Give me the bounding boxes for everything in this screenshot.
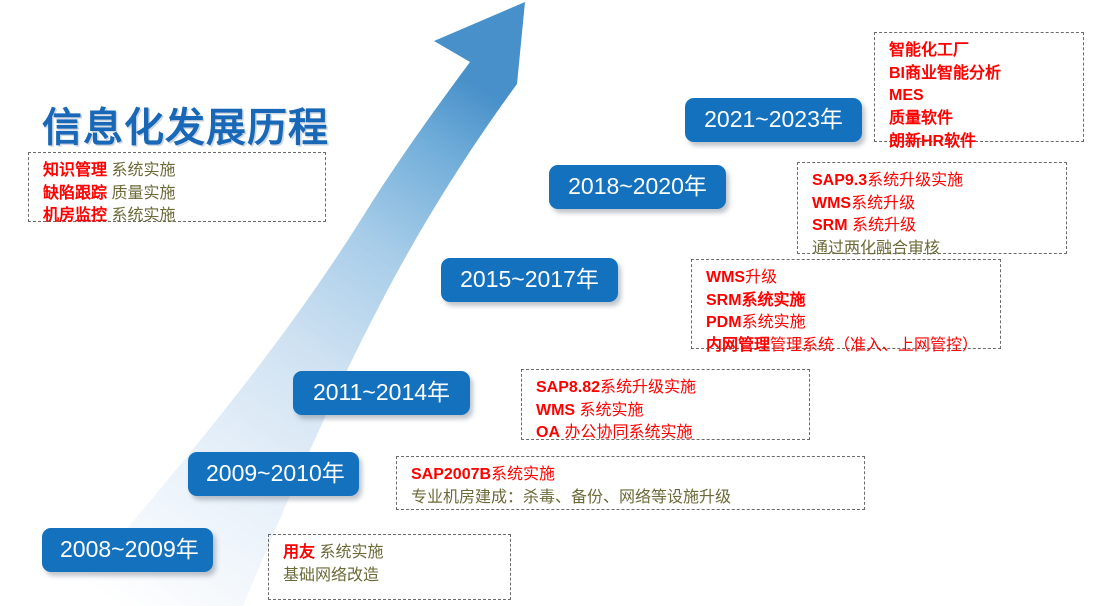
detail-line: 缺陷跟踪 质量实施 — [43, 183, 313, 206]
detail-line: MES — [889, 85, 1071, 108]
detail-rest: 系统实施 — [315, 544, 383, 561]
year-badge-label: 2008~2009年 — [60, 536, 199, 562]
detail-rest: 办公协同系统实施 — [560, 424, 692, 441]
detail-box-2018-2020: SAP9.3系统升级实施WMS系统升级SRM 系统升级通过两化融合审核 — [797, 162, 1067, 254]
detail-line: 机房监控 系统实施 — [43, 205, 313, 228]
detail-highlight: SAP2007B — [411, 466, 491, 483]
year-badge-2009-2010[interactable]: 2009~2010年 — [188, 452, 359, 496]
year-badge-2018-2020[interactable]: 2018~2020年 — [549, 165, 726, 209]
detail-line: BI商业智能分析 — [889, 63, 1071, 86]
year-badge-2011-2014[interactable]: 2011~2014年 — [293, 371, 470, 415]
detail-rest: 系统实施 — [742, 314, 806, 331]
detail-box-2015-2017: WMS升级SRM系统实施PDM系统实施内网管理管理系统（准入、上网管控） — [691, 259, 1001, 349]
detail-line: SAP8.82系统升级实施 — [536, 377, 797, 400]
year-badge-label: 2009~2010年 — [206, 460, 345, 486]
detail-line: SRM系统实施 — [706, 290, 988, 313]
detail-rest: 系统实施 — [107, 162, 175, 179]
year-badge-label: 2011~2014年 — [313, 379, 450, 405]
detail-highlight: WMS — [812, 195, 851, 212]
detail-rest: 系统实施 — [491, 466, 555, 483]
detail-highlight: 内网管理 — [706, 337, 770, 354]
detail-line: WMS 系统实施 — [536, 400, 797, 423]
detail-highlight: 机房监控 — [43, 207, 107, 224]
detail-line: 智能化工厂 — [889, 40, 1071, 63]
detail-rest: 升级 — [745, 269, 777, 286]
detail-line: SRM 系统升级 — [812, 215, 1054, 238]
year-badge-label: 2015~2017年 — [460, 266, 599, 292]
year-badge-2021-2023[interactable]: 2021~2023年 — [685, 98, 862, 142]
detail-line: SAP2007B系统实施 — [411, 464, 852, 487]
detail-line: OA 办公协同系统实施 — [536, 422, 797, 445]
detail-rest: 系统升级 — [848, 217, 916, 234]
detail-line: WMS系统升级 — [812, 193, 1054, 216]
detail-line: 内网管理管理系统（准入、上网管控） — [706, 335, 988, 358]
detail-box-2021-2023: 智能化工厂BI商业智能分析MES质量软件朗新HR软件 — [874, 32, 1084, 142]
year-badge-2015-2017[interactable]: 2015~2017年 — [441, 258, 618, 302]
detail-rest: 系统实施 — [107, 207, 175, 224]
detail-line: WMS升级 — [706, 267, 988, 290]
detail-highlight: 缺陷跟踪 — [43, 185, 107, 202]
detail-highlight: SRM — [812, 217, 848, 234]
detail-line: 知识管理 系统实施 — [43, 160, 313, 183]
year-badge-2008-2009[interactable]: 2008~2009年 — [42, 528, 213, 572]
page-title: 信息化发展历程 — [42, 95, 329, 153]
year-badge-label: 2021~2023年 — [704, 106, 843, 132]
detail-rest: 系统升级实施 — [867, 172, 963, 189]
detail-box-2011-2014: SAP8.82系统升级实施WMS 系统实施OA 办公协同系统实施 — [521, 369, 810, 440]
detail-rest: 质量实施 — [107, 185, 175, 202]
detail-line: SAP9.3系统升级实施 — [812, 170, 1054, 193]
detail-highlight: WMS — [706, 269, 745, 286]
detail-line: 专业机房建成：杀毒、备份、网络等设施升级 — [411, 487, 852, 510]
detail-highlight: 用友 — [283, 544, 315, 561]
detail-rest: 系统升级实施 — [600, 379, 696, 396]
detail-rest: 系统实施 — [575, 402, 643, 419]
detail-line: 质量软件 — [889, 108, 1071, 131]
detail-line: 用友 系统实施 — [283, 542, 498, 565]
slide-canvas: 信息化发展历程 知识管理 系统实施 缺陷跟踪 质量实施 机房监控 系统实施 20… — [0, 0, 1097, 606]
detail-rest: 系统升级 — [851, 195, 915, 212]
detail-line: 通过两化融合审核 — [812, 238, 1054, 261]
detail-highlight: WMS — [536, 402, 575, 419]
detail-line: 朗新HR软件 — [889, 131, 1071, 154]
detail-box-top-left: 知识管理 系统实施 缺陷跟踪 质量实施 机房监控 系统实施 — [28, 152, 326, 222]
detail-highlight: SAP9.3 — [812, 172, 867, 189]
detail-box-2009-2010: SAP2007B系统实施专业机房建成：杀毒、备份、网络等设施升级 — [396, 456, 865, 510]
detail-rest: 管理系统（准入、上网管控） — [770, 337, 978, 354]
detail-highlight: OA — [536, 424, 560, 441]
detail-box-2008-2009: 用友 系统实施基础网络改造 — [268, 534, 511, 600]
detail-line: PDM系统实施 — [706, 312, 988, 335]
year-badge-label: 2018~2020年 — [568, 173, 707, 199]
detail-highlight: SAP8.82 — [536, 379, 600, 396]
detail-line: 基础网络改造 — [283, 565, 498, 588]
detail-highlight: 知识管理 — [43, 162, 107, 179]
detail-highlight: PDM — [706, 314, 742, 331]
